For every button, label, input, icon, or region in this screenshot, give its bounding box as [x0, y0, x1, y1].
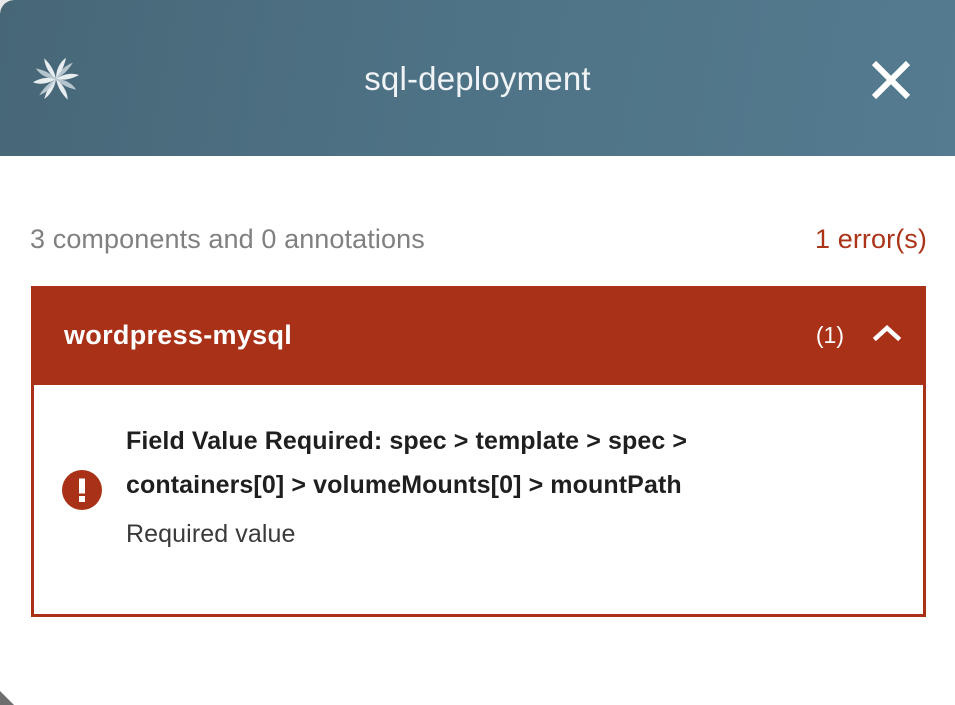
accordion-toggle-button[interactable]: [870, 319, 904, 353]
page-title: sql-deployment: [0, 62, 955, 95]
modal-titlebar: sql-deployment: [0, 0, 955, 156]
error-text-block: Field Value Required: spec > template > …: [126, 417, 897, 549]
error-count-label: 1 error(s): [815, 224, 927, 255]
error-detail: Required value: [126, 520, 897, 549]
issue-count-label: (1): [816, 322, 844, 349]
error-exclamation-icon: [61, 469, 103, 511]
accordion-header-wordpress-mysql[interactable]: wordpress-mysql (1): [31, 286, 926, 385]
close-button[interactable]: [865, 54, 917, 106]
components-summary-label: 3 components and 0 annotations: [30, 224, 425, 255]
error-title: Field Value Required: spec > template > …: [126, 419, 726, 507]
chevron-up-icon: [872, 323, 902, 348]
resource-issue-accordion: wordpress-mysql (1) Field Value Re: [31, 286, 926, 617]
close-x-icon: [868, 57, 914, 103]
corner-artifact: [0, 691, 16, 705]
resource-name-label: wordpress-mysql: [64, 320, 816, 351]
accordion-body: Field Value Required: spec > template > …: [31, 385, 926, 617]
validation-modal: sql-deployment 3 components and 0 annota…: [0, 0, 955, 705]
validation-summary-row: 3 components and 0 annotations 1 error(s…: [30, 224, 927, 255]
